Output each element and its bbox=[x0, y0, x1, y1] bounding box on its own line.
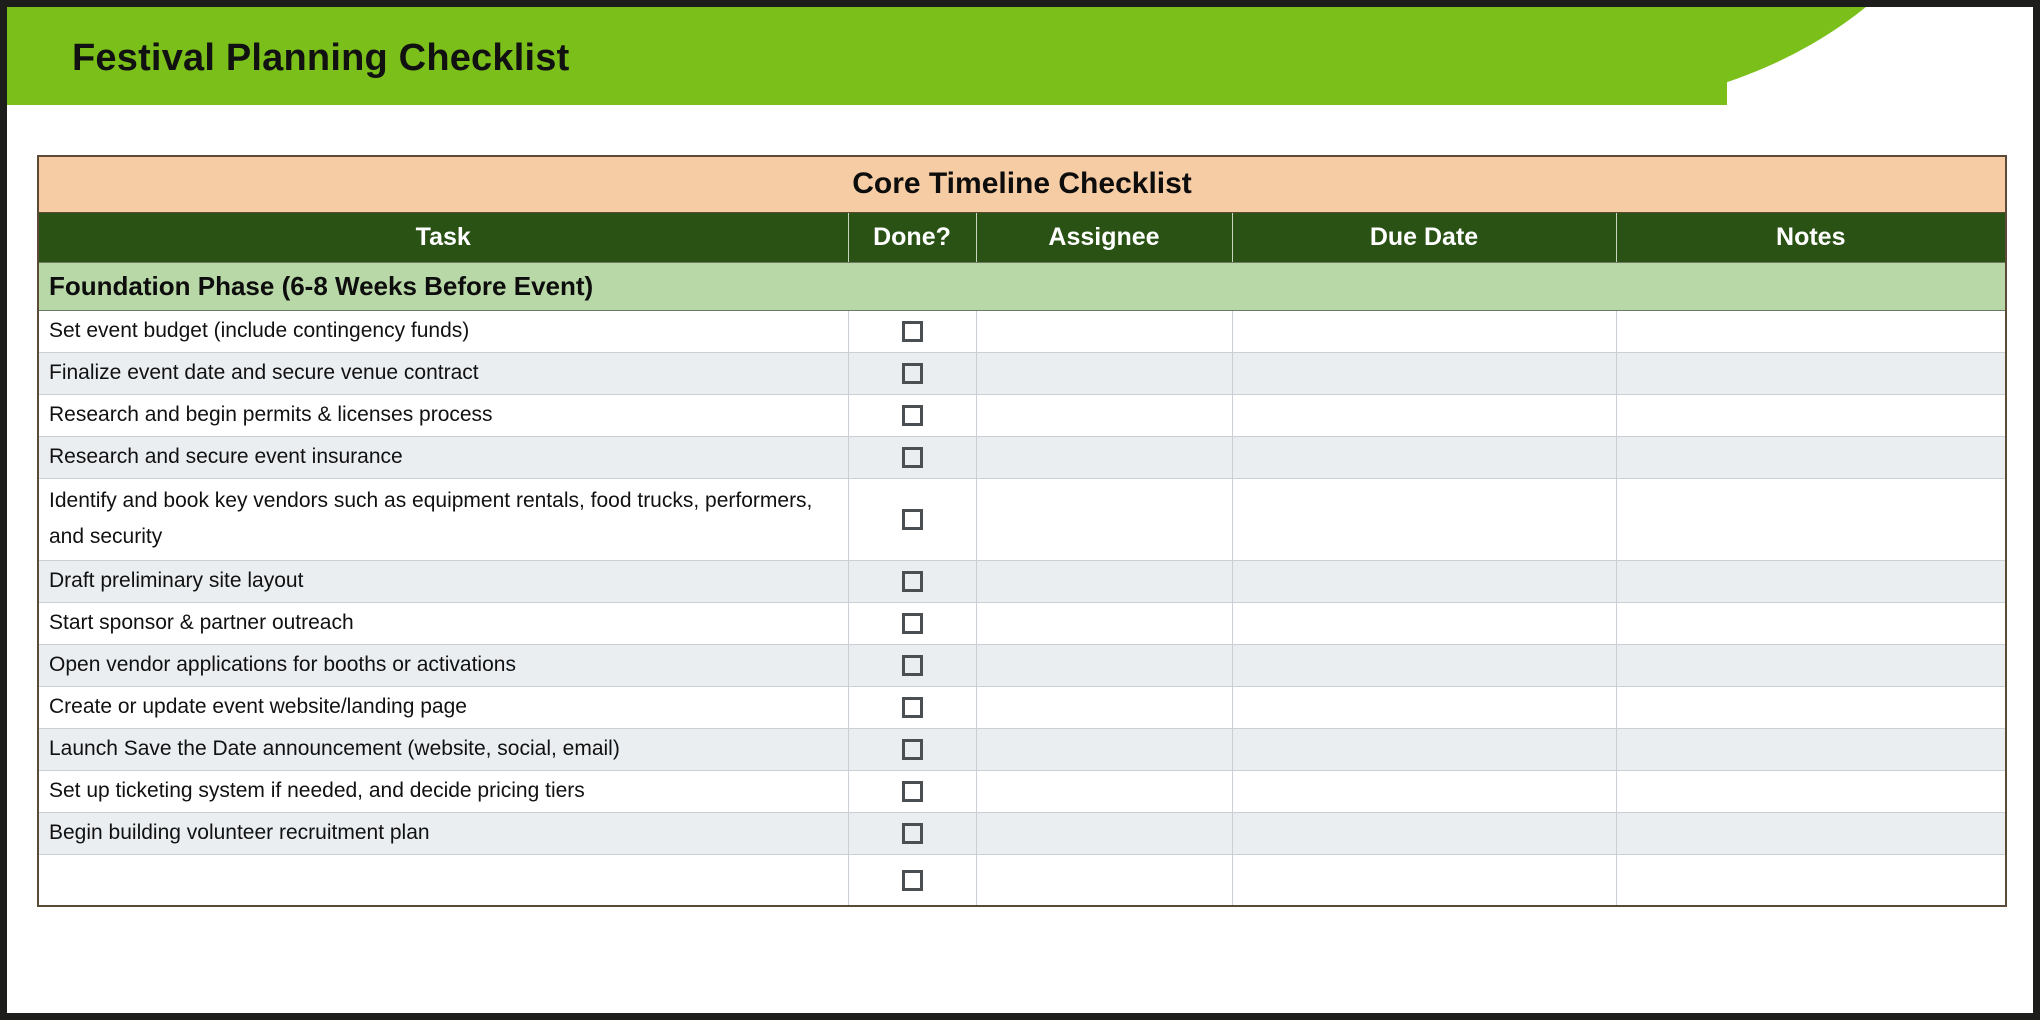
notes-cell[interactable] bbox=[1616, 478, 2006, 560]
notes-cell[interactable] bbox=[1616, 644, 2006, 686]
notes-cell[interactable] bbox=[1616, 602, 2006, 644]
task-label: Launch Save the Date announcement (websi… bbox=[38, 728, 848, 770]
done-cell[interactable] bbox=[848, 812, 976, 854]
column-header-notes[interactable]: Notes bbox=[1616, 212, 2006, 262]
task-label: Open vendor applications for booths or a… bbox=[38, 644, 848, 686]
notes-cell[interactable] bbox=[1616, 770, 2006, 812]
task-label: Begin building volunteer recruitment pla… bbox=[38, 812, 848, 854]
due-date-cell[interactable] bbox=[1232, 686, 1616, 728]
done-cell[interactable] bbox=[848, 644, 976, 686]
notes-cell[interactable] bbox=[1616, 352, 2006, 394]
notes-cell[interactable] bbox=[1616, 436, 2006, 478]
page-title: Festival Planning Checklist bbox=[72, 37, 569, 80]
task-label: Set up ticketing system if needed, and d… bbox=[38, 770, 848, 812]
checkbox-icon[interactable] bbox=[902, 447, 923, 468]
task-label: Identify and book key vendors such as eq… bbox=[38, 478, 848, 560]
due-date-cell[interactable] bbox=[1232, 560, 1616, 602]
assignee-cell[interactable] bbox=[976, 602, 1232, 644]
table-row[interactable]: Begin building volunteer recruitment pla… bbox=[38, 812, 2006, 854]
checkbox-icon[interactable] bbox=[902, 655, 923, 676]
column-header-task[interactable]: Task bbox=[38, 212, 848, 262]
assignee-cell[interactable] bbox=[976, 560, 1232, 602]
checkbox-icon[interactable] bbox=[902, 739, 923, 760]
assignee-cell[interactable] bbox=[976, 310, 1232, 352]
checkbox-icon[interactable] bbox=[902, 781, 923, 802]
task-label: Research and begin permits & licenses pr… bbox=[38, 394, 848, 436]
checkbox-icon[interactable] bbox=[902, 823, 923, 844]
column-header-due-date[interactable]: Due Date bbox=[1232, 212, 1616, 262]
notes-cell[interactable] bbox=[1616, 686, 2006, 728]
task-label: Finalize event date and secure venue con… bbox=[38, 352, 848, 394]
done-cell[interactable] bbox=[848, 436, 976, 478]
task-label: Set event budget (include contingency fu… bbox=[38, 310, 848, 352]
checkbox-icon[interactable] bbox=[902, 613, 923, 634]
column-header-row: TaskDone?AssigneeDue DateNotes bbox=[38, 212, 2006, 262]
due-date-cell[interactable] bbox=[1232, 854, 1616, 906]
done-cell[interactable] bbox=[848, 560, 976, 602]
task-label: Research and secure event insurance bbox=[38, 436, 848, 478]
checkbox-icon[interactable] bbox=[902, 509, 923, 530]
assignee-cell[interactable] bbox=[976, 686, 1232, 728]
task-label: Start sponsor & partner outreach bbox=[38, 602, 848, 644]
due-date-cell[interactable] bbox=[1232, 728, 1616, 770]
banner-curve-decoration bbox=[1592, 7, 1932, 105]
due-date-cell[interactable] bbox=[1232, 602, 1616, 644]
table-row[interactable]: Open vendor applications for booths or a… bbox=[38, 644, 2006, 686]
column-header-done[interactable]: Done? bbox=[848, 212, 976, 262]
table-row[interactable]: Launch Save the Date announcement (websi… bbox=[38, 728, 2006, 770]
sheet-title: Core Timeline Checklist bbox=[38, 156, 2006, 212]
notes-cell[interactable] bbox=[1616, 310, 2006, 352]
assignee-cell[interactable] bbox=[976, 770, 1232, 812]
due-date-cell[interactable] bbox=[1232, 770, 1616, 812]
done-cell[interactable] bbox=[848, 728, 976, 770]
notes-cell[interactable] bbox=[1616, 854, 2006, 906]
table-row[interactable]: Create or update event website/landing p… bbox=[38, 686, 2006, 728]
page-frame: Festival Planning Checklist Core Timelin… bbox=[0, 0, 2040, 1020]
due-date-cell[interactable] bbox=[1232, 478, 1616, 560]
notes-cell[interactable] bbox=[1616, 812, 2006, 854]
table-row[interactable]: Identify and book key vendors such as eq… bbox=[38, 478, 2006, 560]
notes-cell[interactable] bbox=[1616, 560, 2006, 602]
done-cell[interactable] bbox=[848, 770, 976, 812]
table-row[interactable]: Finalize event date and secure venue con… bbox=[38, 352, 2006, 394]
checkbox-icon[interactable] bbox=[902, 571, 923, 592]
table-row[interactable]: Set up ticketing system if needed, and d… bbox=[38, 770, 2006, 812]
done-cell[interactable] bbox=[848, 352, 976, 394]
assignee-cell[interactable] bbox=[976, 478, 1232, 560]
done-cell[interactable] bbox=[848, 310, 976, 352]
due-date-cell[interactable] bbox=[1232, 436, 1616, 478]
sheet-title-row: Core Timeline Checklist bbox=[38, 156, 2006, 212]
assignee-cell[interactable] bbox=[976, 812, 1232, 854]
done-cell[interactable] bbox=[848, 478, 976, 560]
checkbox-icon[interactable] bbox=[902, 870, 923, 891]
due-date-cell[interactable] bbox=[1232, 812, 1616, 854]
assignee-cell[interactable] bbox=[976, 644, 1232, 686]
task-label: Create or update event website/landing p… bbox=[38, 686, 848, 728]
done-cell[interactable] bbox=[848, 394, 976, 436]
assignee-cell[interactable] bbox=[976, 436, 1232, 478]
table-row[interactable]: Start sponsor & partner outreach bbox=[38, 602, 2006, 644]
checklist-table: Core Timeline ChecklistTaskDone?Assignee… bbox=[37, 155, 2007, 907]
phase-header-row: Foundation Phase (6-8 Weeks Before Event… bbox=[38, 262, 2006, 310]
checkbox-icon[interactable] bbox=[902, 697, 923, 718]
assignee-cell[interactable] bbox=[976, 352, 1232, 394]
done-cell[interactable] bbox=[848, 686, 976, 728]
table-row[interactable] bbox=[38, 854, 2006, 906]
notes-cell[interactable] bbox=[1616, 394, 2006, 436]
checkbox-icon[interactable] bbox=[902, 363, 923, 384]
due-date-cell[interactable] bbox=[1232, 352, 1616, 394]
header-banner: Festival Planning Checklist bbox=[7, 7, 1727, 105]
due-date-cell[interactable] bbox=[1232, 394, 1616, 436]
assignee-cell[interactable] bbox=[976, 394, 1232, 436]
table-row[interactable]: Set event budget (include contingency fu… bbox=[38, 310, 2006, 352]
due-date-cell[interactable] bbox=[1232, 310, 1616, 352]
task-label: Draft preliminary site layout bbox=[38, 560, 848, 602]
column-header-assignee[interactable]: Assignee bbox=[976, 212, 1232, 262]
checklist-table-container: Core Timeline ChecklistTaskDone?Assignee… bbox=[37, 155, 2005, 907]
table-row[interactable]: Research and secure event insurance bbox=[38, 436, 2006, 478]
due-date-cell[interactable] bbox=[1232, 644, 1616, 686]
table-row[interactable]: Research and begin permits & licenses pr… bbox=[38, 394, 2006, 436]
assignee-cell[interactable] bbox=[976, 854, 1232, 906]
phase-label: Foundation Phase (6-8 Weeks Before Event… bbox=[38, 262, 2006, 310]
checkbox-icon[interactable] bbox=[902, 321, 923, 342]
done-cell[interactable] bbox=[848, 602, 976, 644]
task-label bbox=[38, 854, 848, 906]
notes-cell[interactable] bbox=[1616, 728, 2006, 770]
assignee-cell[interactable] bbox=[976, 728, 1232, 770]
checkbox-icon[interactable] bbox=[902, 405, 923, 426]
table-row[interactable]: Draft preliminary site layout bbox=[38, 560, 2006, 602]
done-cell[interactable] bbox=[848, 854, 976, 906]
